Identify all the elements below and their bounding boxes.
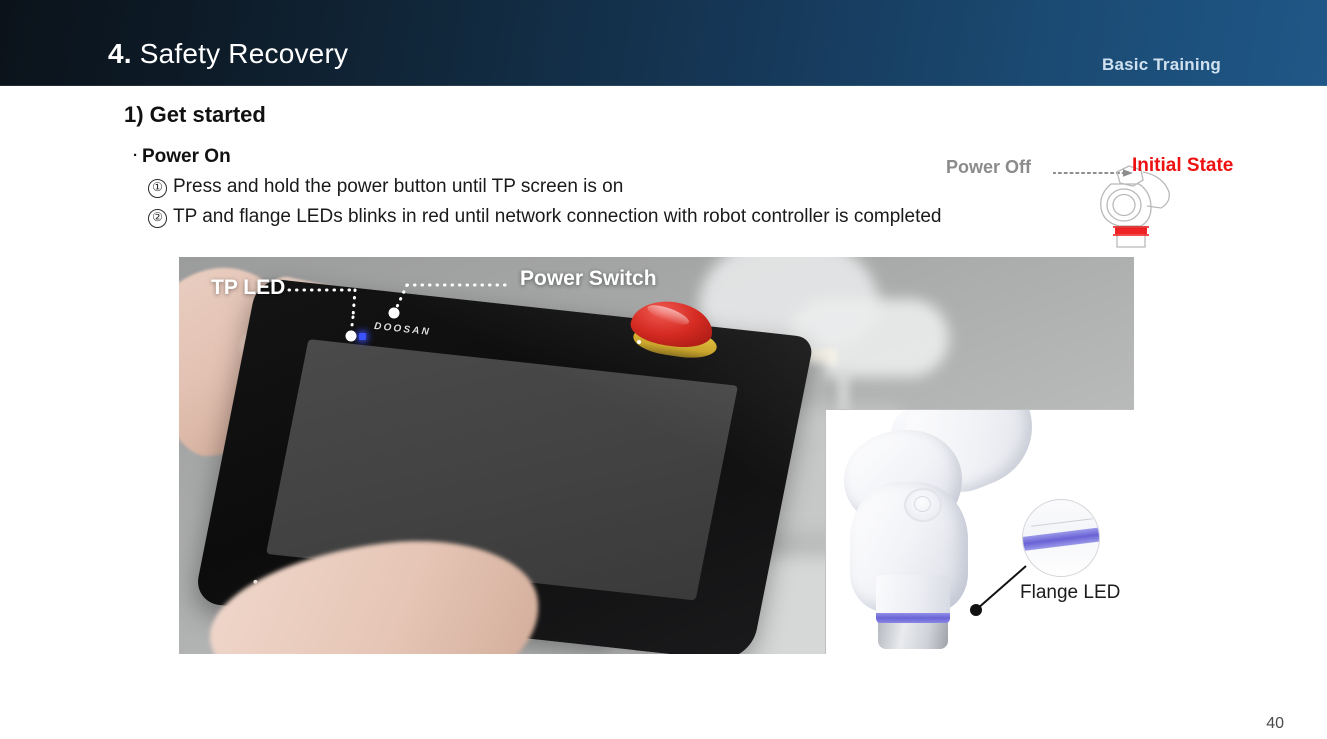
red-led-band: [1115, 228, 1147, 234]
teach-pendant-photo: DOOSAN TP LED Power Switch: [179, 257, 1134, 654]
bullet-dot-icon: ·: [133, 147, 138, 164]
bullet-power-on-label: Power On: [142, 146, 231, 167]
header-course-label: Basic Training: [1102, 55, 1221, 75]
step-item-1: ①Press and hold the power button until T…: [148, 176, 623, 198]
step-number-icon-2: ②: [148, 209, 167, 228]
page-title: 4. Safety Recovery: [108, 38, 348, 70]
initial-state-label: Initial State: [1132, 155, 1233, 177]
slide-number: 4.: [108, 38, 132, 69]
initial-state-callout: Power Off Initial State: [946, 152, 1276, 252]
flange-leader-line: [826, 410, 1134, 654]
estop-speck: [637, 340, 641, 344]
label-flange-led: Flange LED: [1020, 582, 1120, 604]
step-item-2: ②TP and flange LEDs blinks in red until …: [148, 206, 942, 228]
label-tp-led: TP LED: [211, 276, 285, 300]
label-power-switch: Power Switch: [520, 267, 657, 291]
estop-highlight: [645, 301, 691, 328]
step-text-1: Press and hold the power button until TP…: [173, 176, 623, 197]
flange-led-inset-panel: Flange LED: [825, 409, 1134, 654]
bullet-power-on: ·Power On: [133, 146, 231, 168]
tp-led-indicator: [359, 333, 366, 340]
step-text-2: TP and flange LEDs blinks in red until n…: [173, 206, 942, 227]
step-number-icon-1: ①: [148, 179, 167, 198]
slide-header-bar: 4. Safety Recovery Basic Training: [0, 0, 1327, 86]
section-title: 1) Get started: [124, 102, 266, 128]
power-off-label: Power Off: [946, 157, 1031, 178]
slide-title-text: Safety Recovery: [140, 38, 348, 69]
emergency-stop-button: [631, 302, 719, 356]
page-number: 40: [1266, 715, 1284, 733]
